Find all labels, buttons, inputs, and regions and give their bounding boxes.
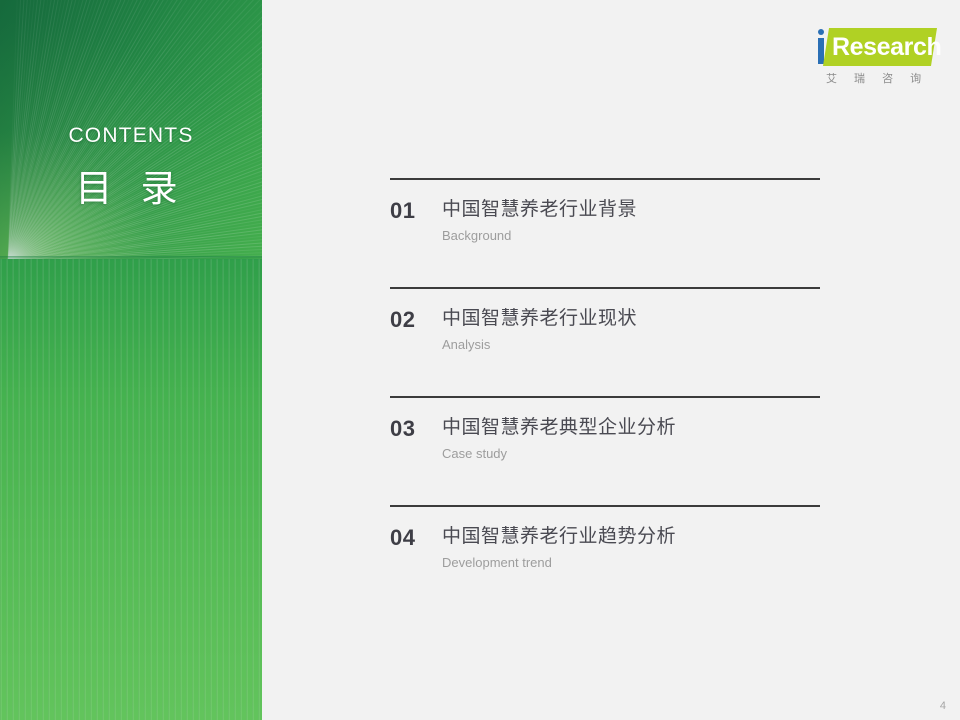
sidebar-panel: CONTENTS 目 录: [0, 0, 262, 720]
page-number: 4: [940, 700, 946, 712]
toc-item-text-group: 中国智慧养老行业趋势分析 Development trend: [442, 523, 676, 573]
toc-divider: [390, 287, 820, 289]
logo-i-dot-icon: [818, 29, 824, 35]
slide-root: CONTENTS 目 录 Research 艾 瑞 咨 询 01 中国智慧养老行…: [0, 0, 960, 720]
sidebar-bottom-gradient: [0, 259, 262, 720]
toc-item-number: 03: [390, 416, 415, 442]
toc-item-title-en: Case study: [442, 444, 676, 464]
toc-item-04[interactable]: 04 中国智慧养老行业趋势分析 Development trend: [390, 505, 820, 614]
table-of-contents: 01 中国智慧养老行业背景 Background 02 中国智慧养老行业现状 A…: [390, 178, 820, 614]
logo-chinese-name: 艾 瑞 咨 询: [826, 70, 938, 86]
toc-item-title-cn: 中国智慧养老典型企业分析: [442, 414, 676, 441]
contents-heading-cn: 目 录: [0, 158, 262, 212]
toc-divider: [390, 396, 820, 398]
vertical-stripes-dark: [0, 259, 262, 720]
toc-item-number: 04: [390, 525, 415, 551]
toc-item-text-group: 中国智慧养老行业背景 Background: [442, 196, 637, 246]
toc-item-title-cn: 中国智慧养老行业趋势分析: [442, 523, 676, 550]
logo-wordmark: Research: [832, 31, 936, 63]
toc-item-02[interactable]: 02 中国智慧养老行业现状 Analysis: [390, 287, 820, 396]
toc-divider: [390, 178, 820, 180]
toc-item-title-en: Development trend: [442, 553, 676, 573]
toc-item-title-cn: 中国智慧养老行业背景: [442, 196, 637, 223]
toc-item-title-en: Analysis: [442, 335, 637, 355]
sidebar-seam: [0, 256, 262, 260]
toc-item-text-group: 中国智慧养老典型企业分析 Case study: [442, 414, 676, 464]
toc-item-03[interactable]: 03 中国智慧养老典型企业分析 Case study: [390, 396, 820, 505]
contents-heading-en: CONTENTS: [0, 124, 262, 148]
toc-item-number: 01: [390, 198, 415, 224]
toc-item-text-group: 中国智慧养老行业现状 Analysis: [442, 305, 637, 355]
toc-item-01[interactable]: 01 中国智慧养老行业背景 Background: [390, 178, 820, 287]
toc-item-title-cn: 中国智慧养老行业现状: [442, 305, 637, 332]
iresearch-logo: Research 艾 瑞 咨 询: [812, 22, 938, 82]
toc-divider: [390, 505, 820, 507]
toc-item-title-en: Background: [442, 226, 637, 246]
toc-item-number: 02: [390, 307, 415, 333]
